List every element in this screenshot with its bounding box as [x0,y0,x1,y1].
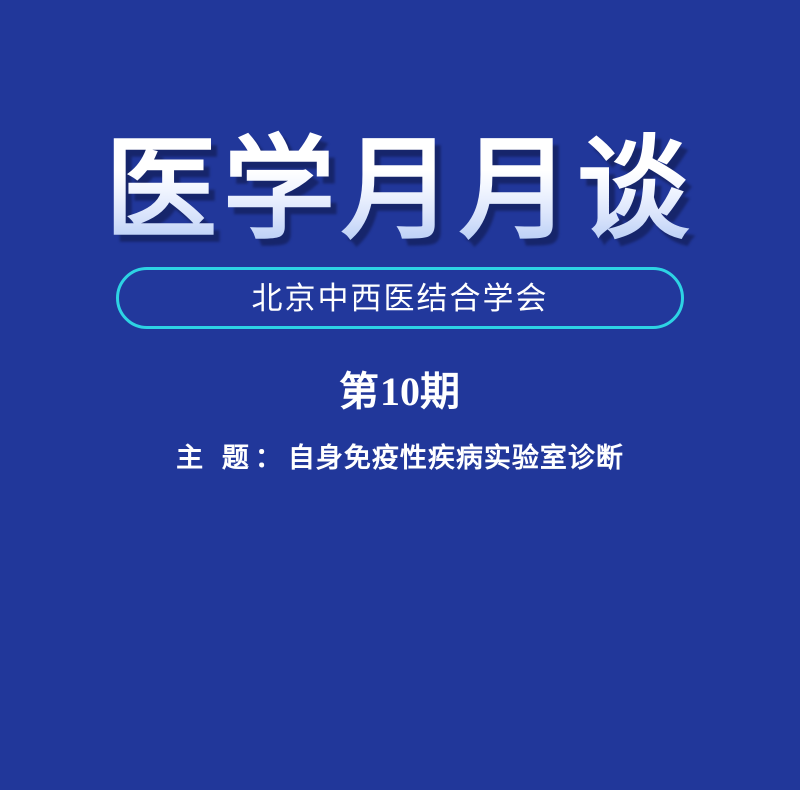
poster-canvas: 医学月月谈 医学月月谈 北京中西医结合学会 第10期 主 题：自身免疫性疾病实验… [0,0,800,790]
topic-label: 主 题： [176,443,288,473]
organization-name: 北京中西医结合学会 [252,283,549,314]
episode-number: 10 [380,369,420,414]
episode-prefix: 第 [339,369,380,414]
poster-title: 医学月月谈 医学月月谈 [0,126,800,256]
topic-line: 主 题：自身免疫性疾病实验室诊断 [0,441,800,475]
organization-pill: 北京中西医结合学会 [116,267,684,329]
topic-value: 自身免疫性疾病实验室诊断 [288,443,624,473]
episode-line: 第10期 [0,368,800,416]
poster-title-text: 医学月月谈 [0,126,800,256]
episode-suffix: 期 [420,369,461,414]
poster-empty-lower-area [0,500,800,790]
